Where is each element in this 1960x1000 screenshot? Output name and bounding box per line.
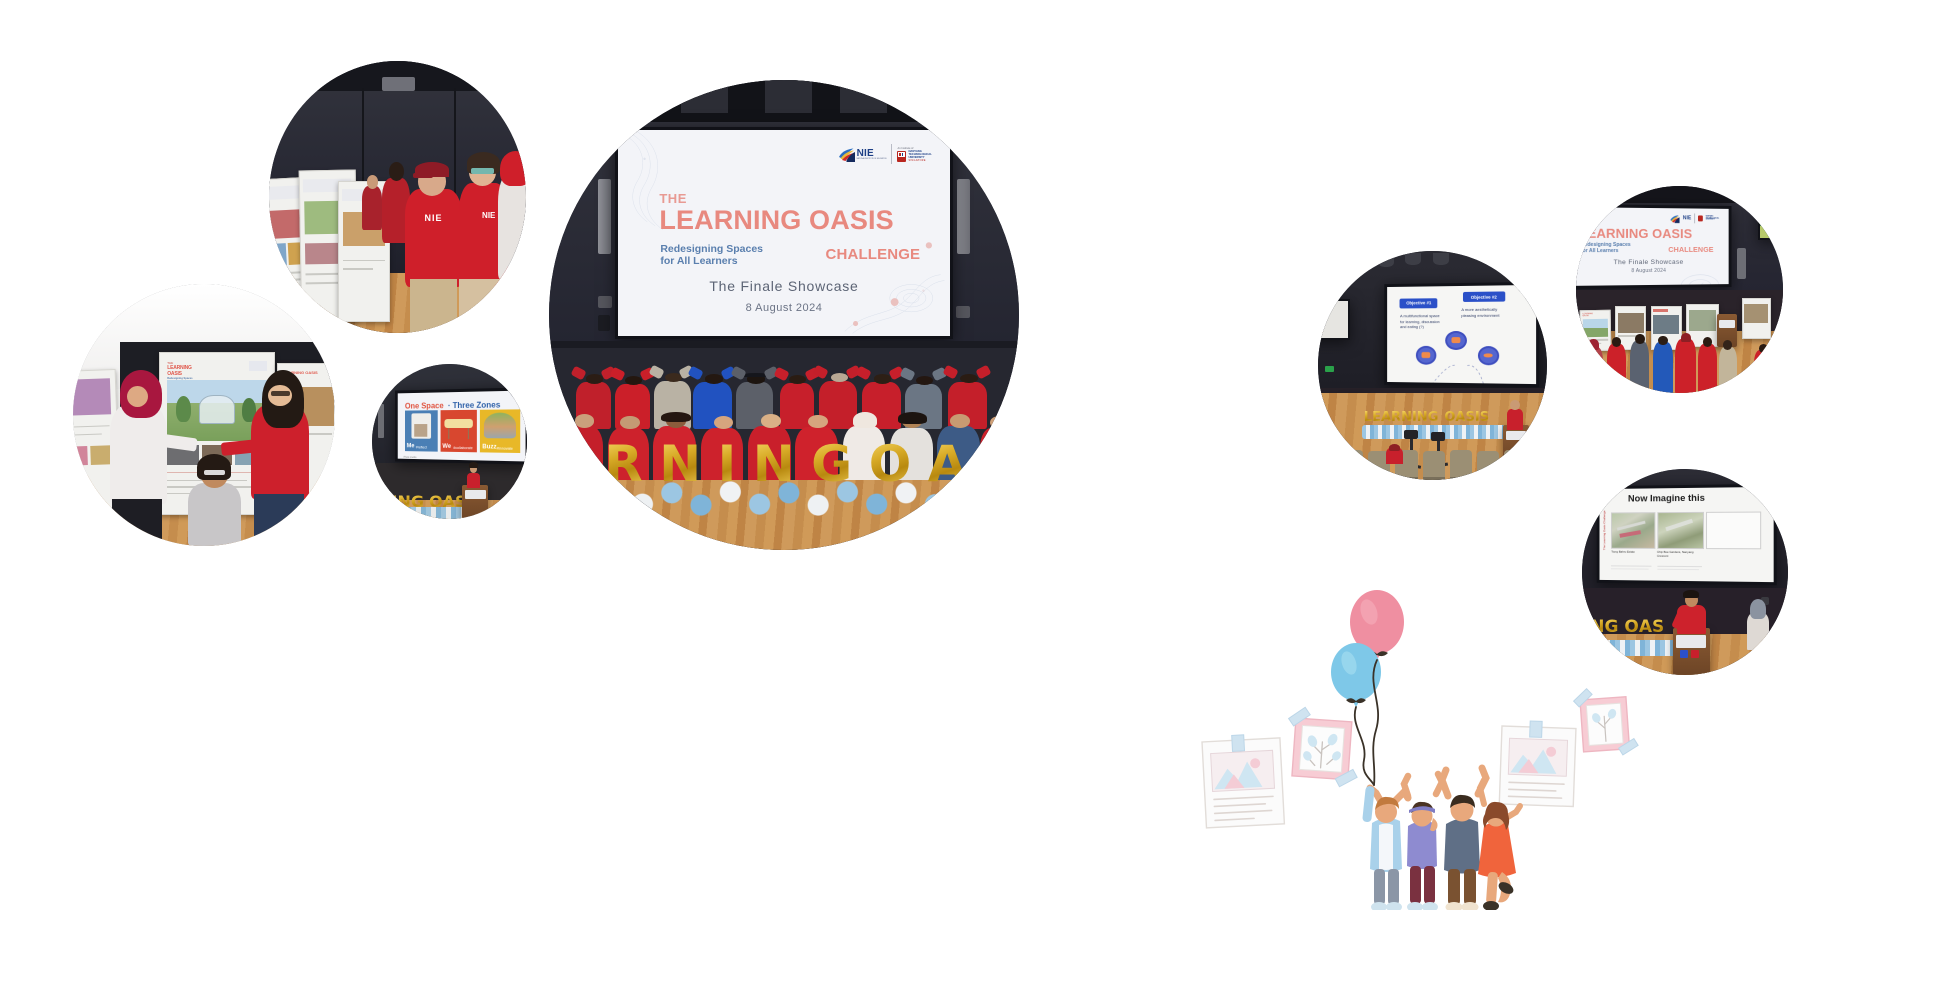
slide-image-cell — [1657, 512, 1704, 549]
balloon-base-cluster — [549, 475, 1019, 522]
celebration-illustration: Flat vector art of four people cheering,… — [1180, 580, 1640, 910]
side-monitor — [1318, 299, 1350, 340]
poster-sketch-1 — [1202, 733, 1285, 828]
slide-title-secondary: NIE NANYANGTECHNOLOGICALUNIVERSITY THE L… — [1576, 204, 1731, 289]
poster-sketch-3 — [1499, 720, 1576, 807]
poster-sketch-4 — [1573, 685, 1639, 758]
slide-now-imagine-this: Now Imagine this The Learning Oasis Chal… — [1597, 484, 1777, 585]
nie-abbrev: NIE — [857, 149, 887, 159]
objective-connector-lines — [1387, 285, 1536, 387]
nie-ntu-logo-lockup: NIE NATIONAL INSTITUTE OF EDUCATION An I… — [838, 144, 932, 164]
slide-tagline-1: Redesigning Spaces — [660, 243, 763, 255]
attendee-figure — [110, 405, 168, 505]
attendee-figure — [188, 483, 240, 546]
slide-side-label: The Learning Oasis Challenge — [1602, 511, 1606, 551]
ntu-crest-icon — [897, 151, 906, 162]
side-monitor — [1758, 203, 1783, 240]
slide-objectives: Objective #1 Objective #2 A multifunctio… — [1384, 282, 1539, 387]
slide-heading: Now Imagine this — [1628, 493, 1705, 505]
slide-tagline-2: for All Learners — [660, 255, 763, 267]
slide-caption-right: Chip Bee Gardens, Nanyang Crescent — [1657, 551, 1704, 559]
zone-card-we: We #collaborate — [440, 409, 477, 452]
podium — [462, 485, 488, 519]
zone-card-me: Me #reflect — [404, 410, 437, 452]
slide-eyebrow: THE — [659, 192, 893, 205]
photo-group-photo-finale[interactable]: NIE NATIONAL INSTITUTE OF EDUCATION An I… — [549, 80, 1019, 550]
stage-balloon-letters: L E A R N I N G O A S I S — [1364, 411, 1489, 424]
photo-team-with-poster[interactable]: THE LEARNING OASIS Redesigning Spaces — [73, 284, 335, 546]
slide-title-main: LEARNING OASIS — [659, 206, 893, 234]
slide-subtitle: The Finale Showcase — [709, 278, 858, 294]
ntu-logo: An Institute of NANYANG TECHNOLOGICAL UN… — [897, 147, 931, 163]
celebration-illustration-svg — [1180, 580, 1640, 910]
photo-zones-presentation[interactable]: One Space · Three Zones Me #reflect We # — [372, 364, 527, 519]
wall-speaker — [598, 179, 610, 254]
nie-full-name: NATIONAL INSTITUTE OF EDUCATION — [857, 159, 887, 161]
podium — [1673, 628, 1710, 675]
poster-sketch-2 — [1284, 706, 1362, 788]
slide-empty-cell — [1706, 512, 1761, 550]
person-2 — [1404, 774, 1442, 910]
wall-speaker — [957, 179, 969, 254]
slide-date: 8 August 2024 — [746, 302, 823, 314]
slide-zones: One Space · Three Zones Me #reflect We # — [395, 387, 527, 465]
slide-title: NIE NATIONAL INSTITUTE OF EDUCATION An I… — [615, 127, 953, 339]
photo-auditorium-objectives[interactable]: Objective #1 Objective #2 A multifunctio… — [1318, 251, 1547, 480]
ntu-line-4: SINGAPORE — [908, 159, 931, 162]
nie-logo: NIE NATIONAL INSTITUTE OF EDUCATION — [838, 147, 887, 162]
photo-gallery-walk[interactable]: NIE NANYANGTECHNOLOGICALUNIVERSITY THE L… — [1576, 186, 1783, 393]
slide-title-challenge: CHALLENGE — [826, 246, 921, 263]
nie-swoosh-icon — [838, 147, 855, 162]
slide-caption-left: Tiong Bahru Estate — [1612, 551, 1654, 555]
person-1 — [1362, 786, 1408, 910]
zone-card-buzz: Buzz #innovate — [480, 409, 520, 453]
attendee-figure — [405, 189, 462, 287]
slide-image-cell — [1612, 513, 1656, 550]
collage-canvas: NIE NIE NIE — [0, 0, 1960, 1000]
attendee-figure — [498, 175, 526, 278]
topo-decoration-svg — [1576, 207, 1728, 289]
